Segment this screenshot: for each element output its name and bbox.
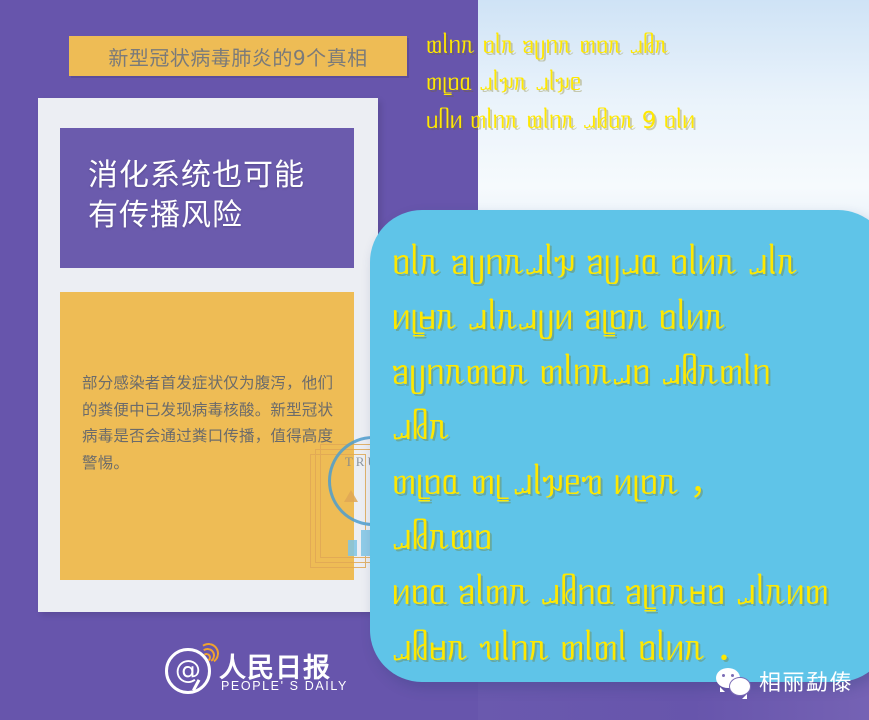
- poster-canvas: 新型冠状病毒肺炎的9个真相 消化系统也可能 有传播风险 部分感染者首发症状仅为腹…: [0, 0, 869, 720]
- translation-box: ᥝᥣᥰ ᥑᥩᥒᥰᥘᥣᥭ ᥑᥩᥘᥲ ᥝᥣᥢᥰ ᥘᥣᥰ ᥢᥧᥛᥰ ᥘᥣᥰᥘᥩᥢ ᥑᥧ…: [370, 210, 869, 682]
- card-heading-block: 消化系统也可能 有传播风险: [60, 128, 354, 268]
- series-title-text: 新型冠状病毒肺炎的9个真相: [108, 42, 367, 71]
- series-title-banner: 新型冠状病毒肺炎的9个真相: [69, 36, 407, 76]
- wechat-account-name: 相丽勐傣: [759, 665, 853, 697]
- brand-name-en: PEOPLE' S DAILY: [221, 679, 348, 693]
- wechat-icon: [716, 668, 750, 694]
- card-body-block: 部分感染者首发症状仅为腹泻，他们的粪便中已发现病毒核酸。新型冠状病毒是否会通过粪…: [60, 292, 354, 580]
- card-body-text: 部分感染者首发症状仅为腹泻，他们的粪便中已发现病毒核酸。新型冠状病毒是否会通过粪…: [82, 370, 338, 477]
- shan-body-paragraph: ᥝᥣᥰ ᥑᥩᥒᥰᥘᥣᥭ ᥑᥩᥘᥲ ᥝᥣᥢᥰ ᥘᥣᥰ ᥢᥧᥛᥰ ᥘᥣᥰᥘᥩᥢ ᥑᥧ…: [392, 236, 830, 677]
- info-card: 消化系统也可能 有传播风险 部分感染者首发症状仅为腹泻，他们的粪便中已发现病毒核…: [38, 98, 378, 612]
- wechat-watermark: 相丽勐傣: [716, 664, 853, 698]
- card-heading-text: 消化系统也可能 有传播风险: [88, 156, 344, 235]
- shan-top-paragraph: ᥗᥣᥒᥰ ᥝᥣᥰ ᥑᥩᥒᥰ ᥖᥝᥰ ᥘᥤᥰ ᥖᥧᥝᥲ ᥘᥣᥭᥰ ᥘᥣᥭᥱ ᥙᥥᥢ…: [426, 28, 856, 140]
- peoples-daily-logo: 人民日报 PEOPLE' S DAILY: [165, 644, 355, 700]
